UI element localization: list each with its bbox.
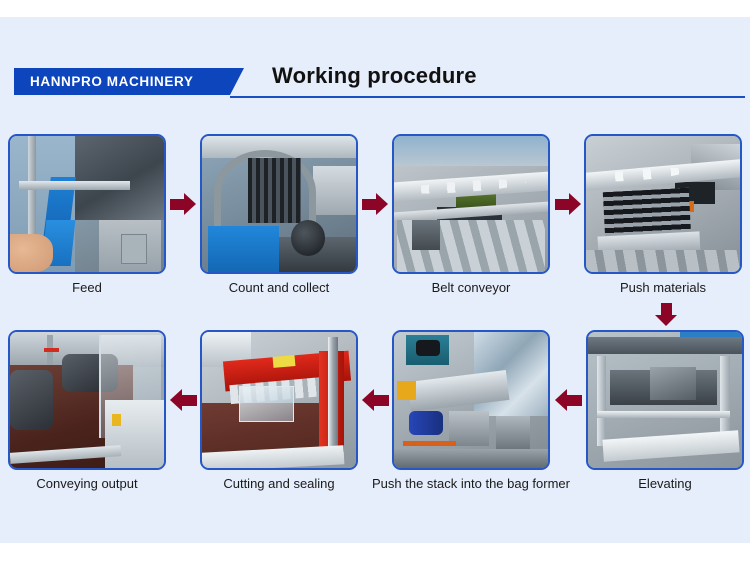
count-and-collect-caption: Count and collect bbox=[229, 280, 329, 295]
feed-photo[interactable] bbox=[8, 134, 166, 274]
arrow-left-icon-2 bbox=[362, 389, 389, 412]
arrow-right-icon-1 bbox=[170, 193, 197, 216]
conveying-output-caption: Conveying output bbox=[36, 476, 137, 491]
arrow-down-icon-1 bbox=[655, 303, 678, 326]
belt-conveyor-photo[interactable] bbox=[392, 134, 550, 274]
elevating-caption: Elevating bbox=[638, 476, 691, 491]
brand-tag-tail bbox=[230, 68, 244, 95]
arrow-left-icon-3 bbox=[555, 389, 582, 412]
top-white-strip bbox=[0, 0, 750, 17]
brand-label: HANNPRO MACHINERY bbox=[30, 74, 193, 89]
page-title: Working procedure bbox=[272, 63, 477, 89]
push-the-stack-into-the-bag-former-photo[interactable] bbox=[392, 330, 550, 470]
working-procedure-page: HANNPRO MACHINERY Working procedure Feed… bbox=[0, 0, 750, 575]
bottom-white-strip bbox=[0, 543, 750, 575]
cutting-and-sealing-photo[interactable] bbox=[200, 330, 358, 470]
count-and-collect-photo[interactable] bbox=[200, 134, 358, 274]
arrow-right-icon-3 bbox=[555, 193, 582, 216]
cutting-and-sealing-caption: Cutting and sealing bbox=[223, 476, 334, 491]
elevating-photo[interactable] bbox=[586, 330, 744, 470]
push-materials-caption: Push materials bbox=[620, 280, 706, 295]
brand-tag: HANNPRO MACHINERY bbox=[14, 68, 230, 95]
push-the-stack-into-the-bag-former-caption: Push the stack into the bag former bbox=[372, 476, 570, 491]
belt-conveyor-caption: Belt conveyor bbox=[432, 280, 511, 295]
page-header: HANNPRO MACHINERY Working procedure bbox=[0, 68, 750, 104]
title-underline-rule bbox=[230, 96, 745, 98]
push-materials-photo[interactable] bbox=[584, 134, 742, 274]
conveying-output-photo[interactable] bbox=[8, 330, 166, 470]
arrow-right-icon-2 bbox=[362, 193, 389, 216]
arrow-left-icon-1 bbox=[170, 389, 197, 412]
feed-caption: Feed bbox=[72, 280, 102, 295]
